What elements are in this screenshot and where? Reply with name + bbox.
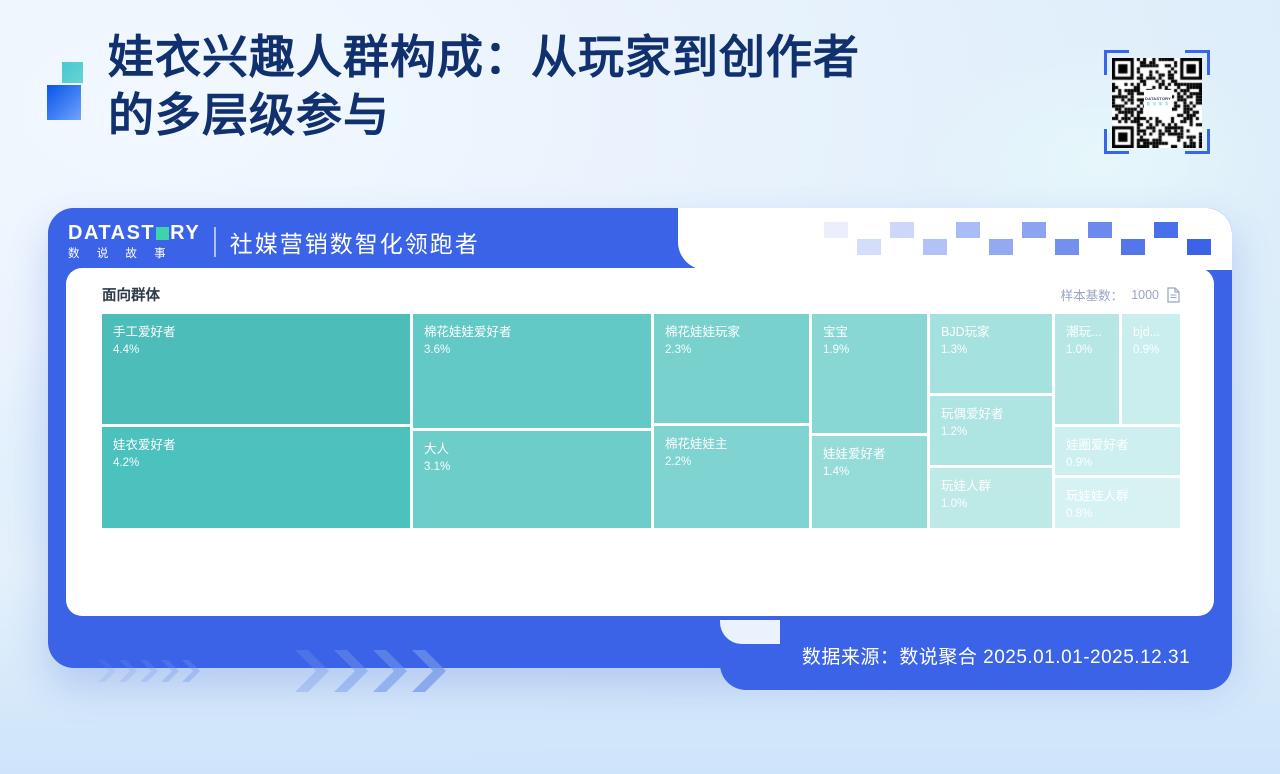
checker-square xyxy=(1154,222,1178,238)
page-title-line-1: 娃衣兴趣人群构成：从玩家到创作者 xyxy=(108,31,860,83)
qr-center-logo-bottom: 数 说 故 事 xyxy=(1147,101,1169,106)
treemap-cell[interactable]: 手工爱好者4.4% xyxy=(102,314,410,424)
checker-square xyxy=(923,239,947,255)
checker-square xyxy=(824,222,848,238)
treemap-cell[interactable]: 娃娃爱好者1.4% xyxy=(812,436,927,528)
treemap-chart: 手工爱好者4.4%娃衣爱好者4.2%棉花娃娃爱好者3.6%大人3.1%棉花娃娃玩… xyxy=(102,314,1180,528)
treemap-cell-label: 玩偶爱好者 xyxy=(941,406,1041,422)
checker-column xyxy=(989,222,1013,256)
treemap-cell[interactable]: 棉花娃娃主2.2% xyxy=(654,426,809,528)
chevron-icon xyxy=(140,660,158,682)
treemap-cell[interactable]: 宝宝1.9% xyxy=(812,314,927,433)
checker-square xyxy=(1121,239,1145,255)
treemap-cell[interactable]: 玩偶爱好者1.2% xyxy=(930,396,1052,465)
chevron-group-left xyxy=(98,660,203,682)
treemap-cell[interactable]: 娃圈爱好者0.9% xyxy=(1055,427,1180,475)
footer-notch xyxy=(720,620,780,644)
treemap-cell-value: 0.8% xyxy=(1066,506,1169,522)
treemap-cell-label: 娃娃爱好者 xyxy=(823,446,916,462)
logo-text-pre: DATAST xyxy=(68,222,155,244)
checker-square xyxy=(1055,239,1079,255)
treemap-cell[interactable]: 棉花娃娃玩家2.3% xyxy=(654,314,809,423)
content-panel: 面向群体 样本基数： 1000 手工爱好者4.4%娃衣爱好者4.2%棉花娃娃爱好… xyxy=(66,268,1214,616)
treemap-cell-label: 玩娃人群 xyxy=(941,478,1041,494)
checker-column xyxy=(923,222,947,256)
footer-band: 数据来源：数说聚合 2025.01.01-2025.12.31 xyxy=(720,620,1232,690)
treemap-cell-label: 棉花娃娃爱好者 xyxy=(424,324,640,340)
qr-center-logo: DATASTORY 数 说 故 事 xyxy=(1144,90,1172,112)
checker-column xyxy=(857,222,881,256)
qr-code[interactable]: DATASTORY 数 说 故 事 xyxy=(1100,28,1214,176)
checker-column xyxy=(956,222,980,256)
treemap-cell-value: 2.3% xyxy=(665,342,798,358)
logo-text-post: RY xyxy=(170,222,200,244)
brand-tagline: 社媒营销数智化领跑者 xyxy=(230,225,480,259)
chevron-icon xyxy=(295,650,329,692)
checker-column xyxy=(890,222,914,256)
checker-square xyxy=(890,222,914,238)
treemap-cell-label: 棉花娃娃玩家 xyxy=(665,324,798,340)
checker-decoration xyxy=(824,222,1216,256)
treemap-cell-label: 手工爱好者 xyxy=(113,324,399,340)
decor-square-blue-icon xyxy=(47,85,81,120)
chevron-icon xyxy=(98,660,116,682)
chevron-group-right xyxy=(295,650,451,692)
treemap-cell-value: 3.6% xyxy=(424,342,640,358)
logo-square-o-icon xyxy=(156,227,169,240)
checker-column xyxy=(824,222,848,256)
sample-base: 样本基数： 1000 xyxy=(1061,285,1180,304)
treemap-cell[interactable]: 玩娃娃人群0.8% xyxy=(1055,478,1180,528)
brand-lockup: DATAST RY 数 说 故 事 社媒营销数智化领跑者 xyxy=(68,222,480,262)
checker-column xyxy=(1187,222,1211,256)
treemap-cell-value: 1.3% xyxy=(941,342,1041,358)
treemap-cell-value: 3.1% xyxy=(424,459,640,475)
checker-square xyxy=(1187,239,1211,255)
treemap-cell-value: 1.2% xyxy=(941,424,1041,440)
treemap-cell-value: 2.2% xyxy=(665,454,798,470)
datastory-logo: DATAST RY 数 说 故 事 xyxy=(68,222,200,262)
treemap-cell-value: 1.0% xyxy=(941,496,1041,512)
checker-column xyxy=(1088,222,1112,256)
treemap-cell-value: 1.0% xyxy=(1066,342,1108,358)
document-icon[interactable] xyxy=(1167,287,1180,303)
chevron-icon xyxy=(119,660,137,682)
checker-square xyxy=(1022,222,1046,238)
checker-column xyxy=(1055,222,1079,256)
chevron-icon xyxy=(334,650,368,692)
data-source-text: 数据来源：数说聚合 2025.01.01-2025.12.31 xyxy=(720,620,1232,690)
treemap-cell-label: 娃圈爱好者 xyxy=(1066,437,1169,453)
chevron-icon xyxy=(161,660,179,682)
treemap-cell[interactable]: BJD玩家1.3% xyxy=(930,314,1052,393)
treemap-cell-value: 0.9% xyxy=(1066,455,1169,471)
decor-square-teal-icon xyxy=(62,62,83,83)
treemap-cell[interactable]: 棉花娃娃爱好者3.6% xyxy=(413,314,651,428)
checker-column xyxy=(1154,222,1178,256)
chevron-icon xyxy=(182,660,200,682)
checker-square xyxy=(956,222,980,238)
treemap-cell-label: 棉花娃娃主 xyxy=(665,436,798,452)
slide-canvas: 娃衣兴趣人群构成：从玩家到创作者 的多层级参与 DATASTORY 数 说 故 … xyxy=(0,0,1280,774)
sample-base-label: 样本基数： xyxy=(1061,285,1124,304)
treemap-cell[interactable]: bjd...0.9% xyxy=(1122,314,1180,424)
treemap-cell-label: 娃衣爱好者 xyxy=(113,437,399,453)
datastory-logo-chinese: 数 说 故 事 xyxy=(68,246,200,262)
treemap-cell-value: 0.9% xyxy=(1133,342,1169,358)
sample-base-value: 1000 xyxy=(1131,288,1159,302)
treemap-cell[interactable]: 潮玩...1.0% xyxy=(1055,314,1119,424)
treemap-cell-label: BJD玩家 xyxy=(941,324,1041,340)
treemap-cell-value: 4.2% xyxy=(113,455,399,471)
treemap-cell-value: 4.4% xyxy=(113,342,399,358)
treemap-cell-label: 玩娃娃人群 xyxy=(1066,488,1169,504)
checker-square xyxy=(989,239,1013,255)
checker-column xyxy=(1022,222,1046,256)
treemap-cell-value: 1.9% xyxy=(823,342,916,358)
page-title: 娃衣兴趣人群构成：从玩家到创作者 的多层级参与 xyxy=(108,28,1068,144)
checker-square xyxy=(857,239,881,255)
checker-square xyxy=(1088,222,1112,238)
treemap-cell[interactable]: 玩娃人群1.0% xyxy=(930,468,1052,528)
treemap-cell-label: 潮玩... xyxy=(1066,324,1108,340)
datastory-logo-wordmark: DATAST RY xyxy=(68,222,200,244)
main-card: DATAST RY 数 说 故 事 社媒营销数智化领跑者 面向群体 样本基数： … xyxy=(48,208,1232,633)
chevron-icon xyxy=(373,650,407,692)
treemap-cell-value: 1.4% xyxy=(823,464,916,480)
page-title-line-2: 的多层级参与 xyxy=(108,86,1068,144)
treemap-cell-label: 宝宝 xyxy=(823,324,916,340)
treemap-cell-label: 大人 xyxy=(424,441,640,457)
treemap-cell-label: bjd... xyxy=(1133,324,1169,340)
panel-title: 面向群体 xyxy=(102,284,160,305)
checker-column xyxy=(1121,222,1145,256)
brand-divider xyxy=(214,227,216,257)
treemap-cell[interactable]: 大人3.1% xyxy=(413,431,651,528)
panel-header: 面向群体 样本基数： 1000 xyxy=(102,280,1180,312)
chevron-icon xyxy=(412,650,446,692)
treemap-cell[interactable]: 娃衣爱好者4.2% xyxy=(102,427,410,528)
